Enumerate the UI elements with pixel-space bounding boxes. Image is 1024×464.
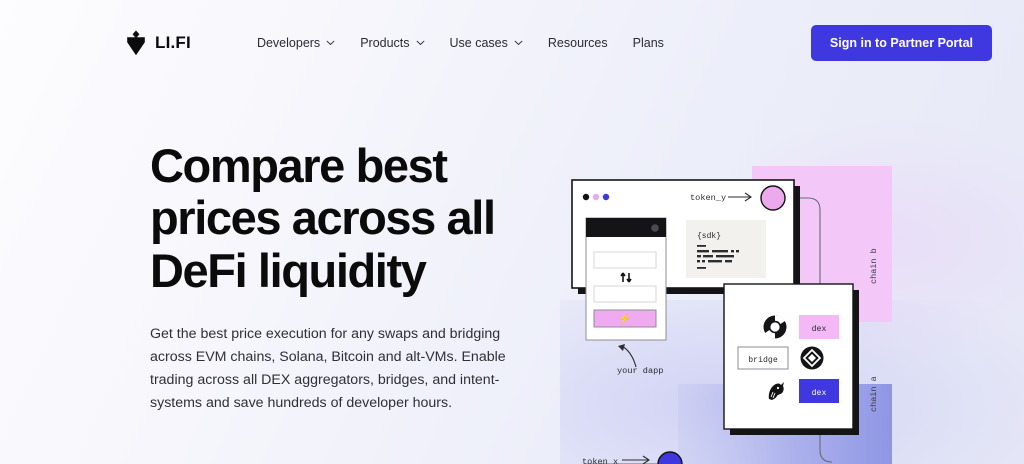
dex-badge-pink-label: dex [812, 324, 827, 334]
dex-badge-pink[interactable]: dex [799, 315, 839, 339]
chevron-down-icon [514, 40, 523, 46]
diamond-protocol-icon [801, 347, 824, 370]
sdk-code-label: {sdk} [697, 232, 721, 241]
token-x-annotation: token_x [582, 452, 682, 464]
hero-illustration: chain b chain a [560, 160, 1024, 464]
dapp-window[interactable]: ⚡ [586, 218, 666, 340]
swap-from-field [594, 252, 656, 268]
window-dot-3 [603, 194, 609, 200]
dex-badge-blue[interactable]: dex [799, 379, 839, 403]
site-header: LI.FI Developers Products Use cases Reso… [0, 0, 1024, 86]
unicorn-icon [764, 380, 787, 403]
page-title: Compare best prices across all DeFi liqu… [150, 140, 550, 297]
token-x-label: token_x [582, 457, 618, 464]
heading-line-2: prices across all [150, 191, 495, 244]
chain-b-label: chain b [869, 248, 879, 284]
stargate-icon [764, 315, 787, 338]
nav-label: Plans [633, 36, 664, 50]
token-y-circle [761, 186, 785, 210]
token-y-label: token_y [690, 193, 726, 203]
dapp-window-menu-dot [651, 224, 659, 232]
routing-panel[interactable]: dex bridge dex [724, 284, 859, 435]
sign-in-partner-portal-button[interactable]: Sign in to Partner Portal [811, 25, 992, 61]
sdk-code-block: {sdk} [686, 220, 766, 278]
your-dapp-label: your dapp [617, 366, 663, 376]
bridge-label: bridge [748, 355, 778, 365]
nav-item-developers[interactable]: Developers [257, 36, 335, 50]
main-navigation: Developers Products Use cases Resources … [257, 36, 664, 50]
nav-item-use-cases[interactable]: Use cases [450, 36, 523, 50]
chain-a-label: chain a [869, 376, 879, 412]
nav-item-products[interactable]: Products [360, 36, 424, 50]
lifi-chevron-logo-icon [126, 30, 146, 56]
heading-line-1: Compare best [150, 139, 447, 192]
brand-logo-link[interactable]: LI.FI [126, 30, 191, 56]
window-dot-2 [593, 194, 599, 200]
bridge-node[interactable]: bridge [738, 347, 788, 369]
chevron-down-icon [416, 40, 425, 46]
heading-line-3: DeFi liquidity [150, 244, 425, 297]
hero-description: Get the best price execution for any swa… [150, 323, 512, 415]
nav-label: Developers [257, 36, 320, 50]
chevron-down-icon [326, 40, 335, 46]
nav-label: Resources [548, 36, 608, 50]
swap-bolt-icon: ⚡ [619, 312, 631, 325]
swap-to-field [594, 286, 656, 302]
your-dapp-annotation: your dapp [617, 344, 663, 376]
nav-label: Use cases [450, 36, 508, 50]
nav-item-plans[interactable]: Plans [633, 36, 664, 50]
nav-label: Products [360, 36, 409, 50]
brand-name: LI.FI [155, 33, 191, 53]
nav-item-resources[interactable]: Resources [548, 36, 608, 50]
window-dot-1 [583, 194, 589, 200]
dex-badge-blue-label: dex [812, 388, 827, 398]
hero-section: Compare best prices across all DeFi liqu… [150, 140, 550, 415]
